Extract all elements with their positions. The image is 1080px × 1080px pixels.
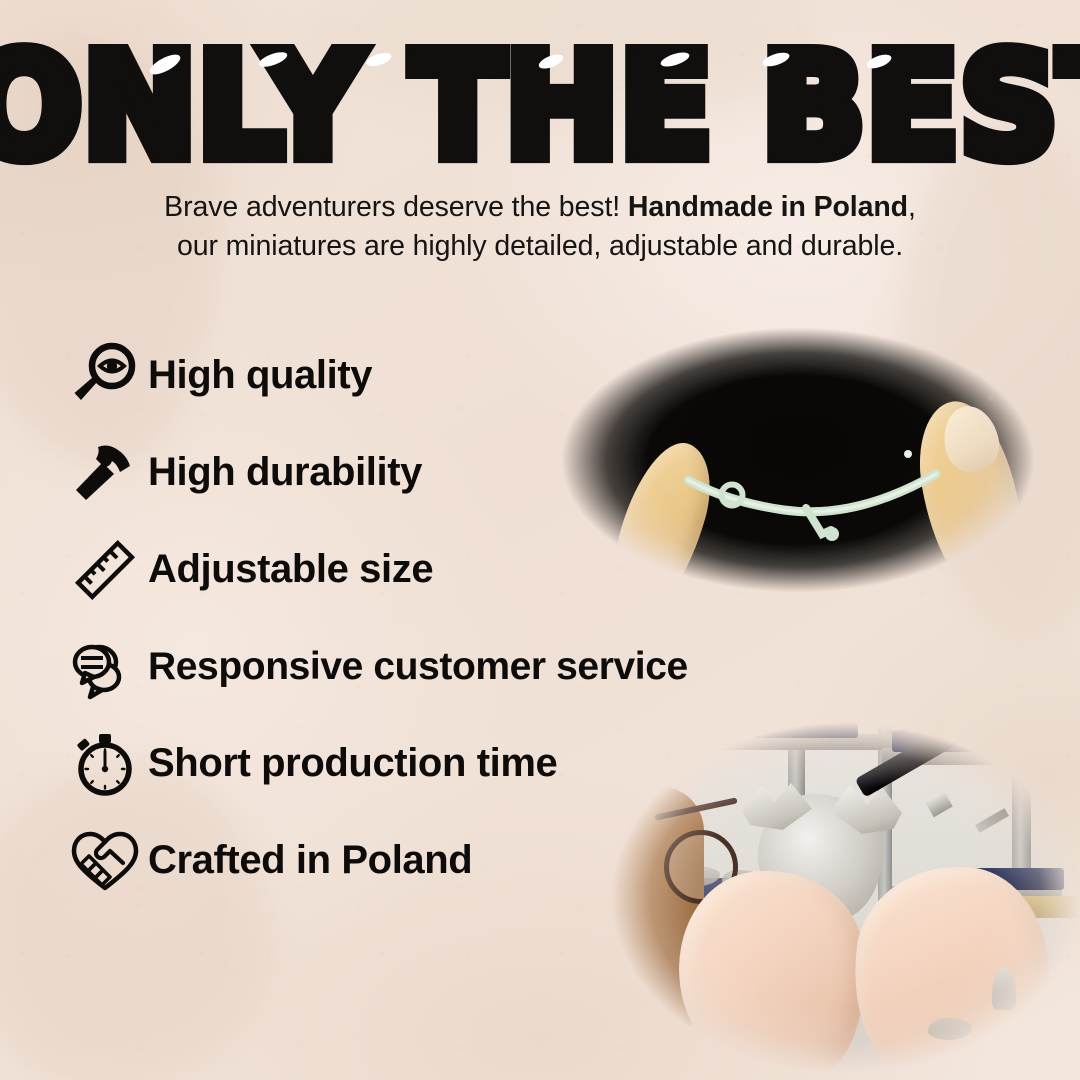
mint-miniature-part	[536, 300, 1060, 620]
subtitle-emphasis: Handmade in Poland	[628, 191, 908, 223]
subtitle-line-2: our miniatures are highly detailed, adju…	[0, 227, 1080, 266]
stopwatch-icon	[62, 728, 148, 800]
speech-bubbles-icon	[62, 631, 148, 703]
feature-label: High quality	[148, 353, 372, 398]
subtitle-line-1-prefix: Brave adventurers deserve the best!	[164, 191, 628, 223]
page-title: ONLY THE BEST	[0, 36, 1080, 179]
headline-container: ONLY THE BEST	[0, 36, 1080, 164]
flexing-miniature-photo	[536, 300, 1060, 620]
subtitle-line-1: Brave adventurers deserve the best! Hand…	[0, 188, 1080, 227]
feature-label: Responsive customer service	[148, 645, 688, 689]
handshake-heart-icon	[62, 825, 148, 897]
promo-poster: ONLY THE BEST Brave adventurers deserve …	[0, 0, 1080, 1080]
subtitle-line-1-suffix: ,	[908, 191, 916, 223]
feature-label: Short production time	[148, 741, 557, 786]
magnifier-eye-icon	[62, 340, 148, 412]
subtitle: Brave adventurers deserve the best! Hand…	[0, 188, 1080, 266]
workshop-crafting-photo	[592, 700, 1080, 1080]
feature-label: High durability	[148, 450, 422, 495]
hammer-icon	[62, 437, 148, 509]
ruler-icon	[62, 534, 148, 606]
feature-label: Crafted in Poland	[148, 838, 472, 883]
feature-label: Adjustable size	[148, 547, 433, 592]
